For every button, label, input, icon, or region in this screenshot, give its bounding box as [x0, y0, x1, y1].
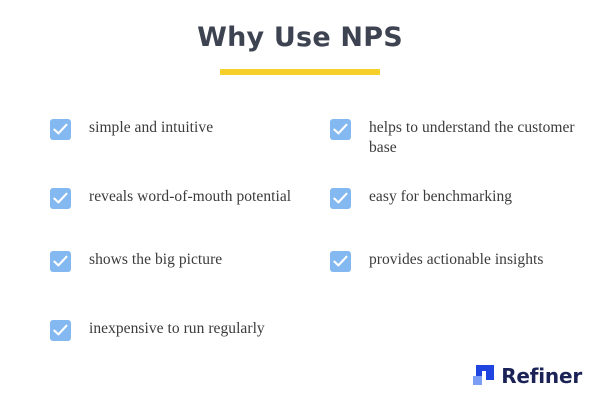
list-item[interactable]: simple and intuitive [50, 118, 300, 140]
check-icon [333, 255, 348, 268]
slide-canvas: Why Use NPS simple and intuitive reve [0, 0, 600, 400]
checkbox-checked[interactable] [330, 188, 351, 209]
list-item-label: reveals word-of-mouth potential [89, 187, 291, 207]
list-item-label: helps to understand the customer base [369, 118, 585, 158]
page-title: Why Use NPS [0, 22, 600, 54]
check-icon [53, 192, 68, 205]
list-item-label: simple and intuitive [89, 118, 213, 138]
list-item[interactable]: reveals word-of-mouth potential [50, 187, 300, 209]
list-item-label: inexpensive to run regularly [89, 319, 265, 339]
list-item[interactable]: inexpensive to run regularly [50, 319, 300, 341]
checkbox-checked[interactable] [50, 188, 71, 209]
benefits-columns: simple and intuitive reveals word-of-mou… [0, 112, 600, 372]
refiner-square-icon [473, 365, 494, 386]
checkbox-checked[interactable] [50, 251, 71, 272]
list-item[interactable]: helps to understand the customer base [330, 118, 585, 158]
check-icon [333, 123, 348, 136]
check-icon [53, 255, 68, 268]
title-underline-accent [220, 69, 380, 75]
list-item-label: provides actionable insights [369, 250, 543, 270]
logo-wordmark: Refiner [501, 366, 582, 386]
refiner-logo[interactable]: Refiner [473, 365, 582, 386]
list-item[interactable]: provides actionable insights [330, 250, 585, 272]
check-icon [53, 324, 68, 337]
list-item[interactable]: easy for benchmarking [330, 187, 585, 209]
checkbox-checked[interactable] [50, 320, 71, 341]
checkbox-checked[interactable] [330, 119, 351, 140]
check-icon [53, 123, 68, 136]
checkbox-checked[interactable] [50, 119, 71, 140]
list-item-label: shows the big picture [89, 250, 222, 270]
check-icon [333, 192, 348, 205]
list-item-label: easy for benchmarking [369, 187, 512, 207]
title-block: Why Use NPS [0, 22, 600, 75]
list-item[interactable]: shows the big picture [50, 250, 300, 272]
checkbox-checked[interactable] [330, 251, 351, 272]
